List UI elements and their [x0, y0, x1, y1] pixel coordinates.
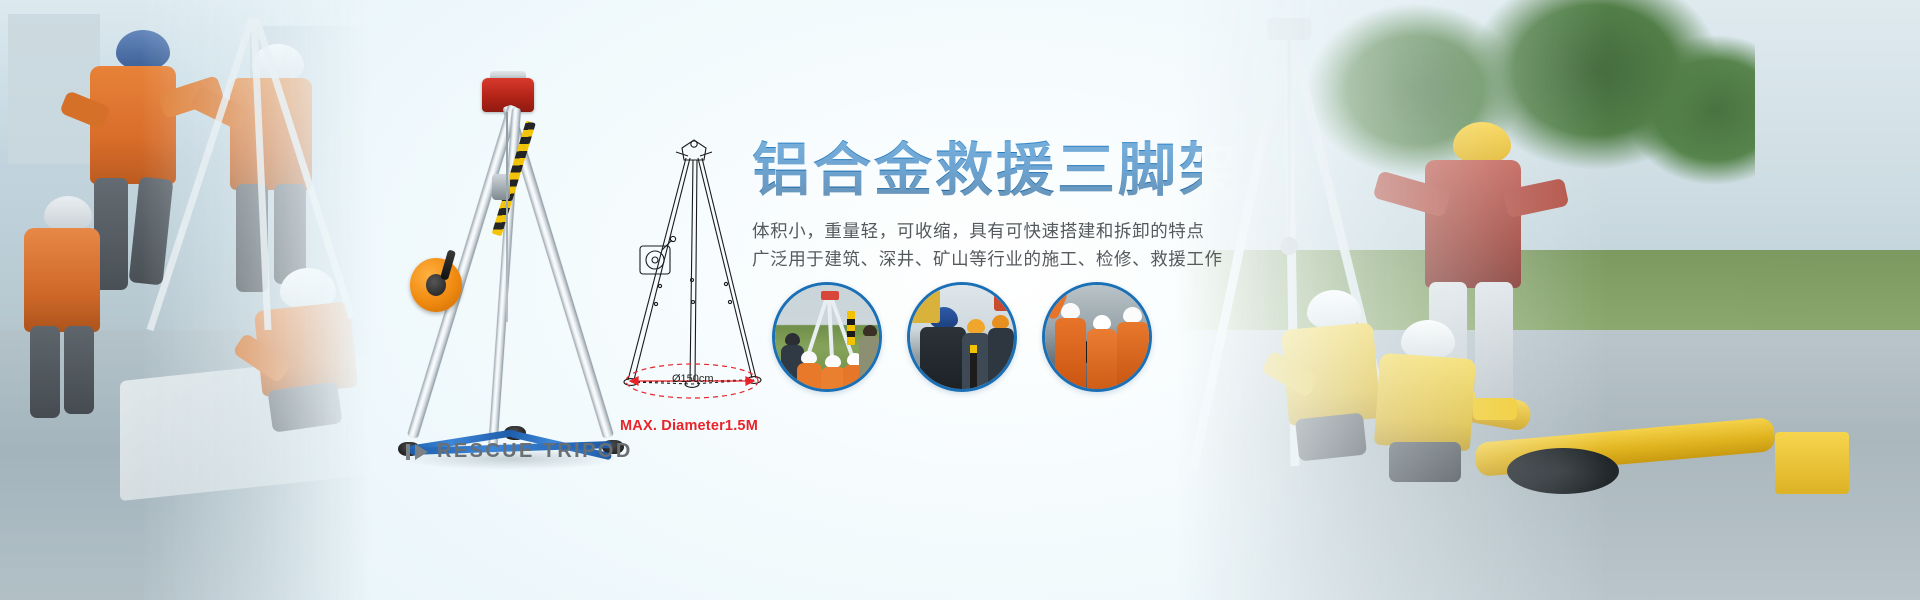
product-tripod-photo [386, 78, 632, 458]
equipment-case [1775, 432, 1849, 494]
thumbnail-row [772, 282, 1152, 392]
subtitle-line-2: 广泛用于建筑、深井、矿山等行业的施工、检修、救援工作 [752, 245, 1172, 273]
caption-bar-icon [406, 444, 410, 460]
text-block: 铝合金救援三脚架 体积小，重量轻，可收缩，具有可快速搭建和拆卸的特点 广泛用于建… [752, 140, 1202, 273]
page-title: 铝合金救援三脚架 [752, 140, 1202, 203]
product-banner: RESCUE TRIPOD [0, 0, 1920, 600]
left-photo-tripod-outline [0, 0, 372, 600]
thumbnail-image-2 [910, 285, 1014, 389]
subtitle-line-1: 体积小，重量轻，可收缩，具有可快速搭建和拆卸的特点 [752, 217, 1172, 245]
diameter-dimension-label: Ø150cm [672, 373, 714, 385]
subtitle-group: 体积小，重量轻，可收缩，具有可快速搭建和拆卸的特点 广泛用于建筑、深井、矿山等行… [752, 217, 1172, 274]
manhole-opening [1507, 448, 1619, 494]
thumbnail-image-1 [775, 285, 879, 389]
caption-label: RESCUE TRIPOD [437, 440, 633, 463]
play-triangle-icon [415, 444, 428, 460]
right-worker-figure-3 [1355, 320, 1495, 510]
max-diameter-label: MAX. Diameter1.5M [620, 418, 758, 434]
product-caption: RESCUE TRIPOD [406, 440, 633, 463]
tripod-rope [506, 112, 508, 322]
thumbnail-image-3 [1045, 285, 1149, 389]
thumbnail-field-rescue-training[interactable] [772, 282, 882, 392]
thumbnail-indoor-equipment-demo[interactable] [907, 282, 1017, 392]
left-photo [0, 0, 372, 600]
thumbnail-manhole-rescue-operation[interactable] [1042, 282, 1152, 392]
right-photo [1175, 0, 1920, 600]
